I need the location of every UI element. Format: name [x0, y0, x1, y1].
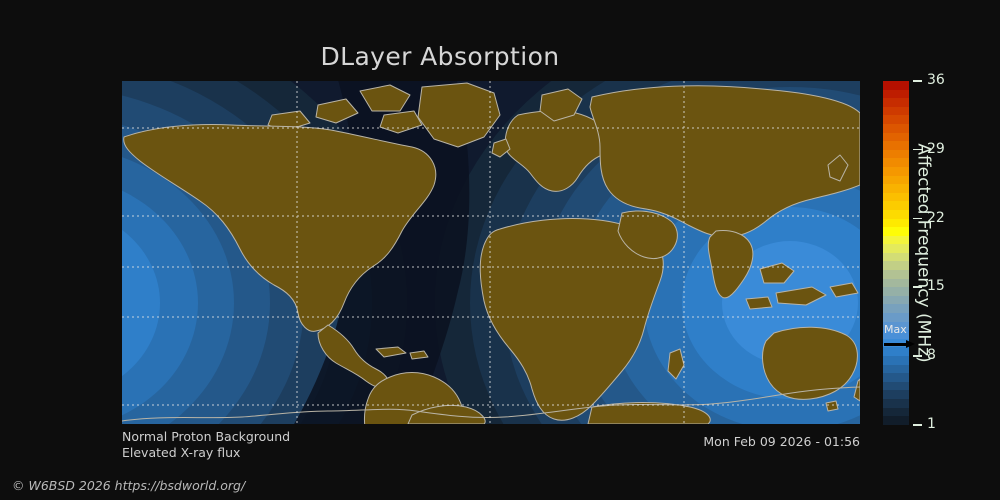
colorbar-band	[883, 133, 909, 142]
colorbar-band	[883, 270, 909, 279]
colorbar-band	[883, 356, 909, 365]
world-map	[122, 81, 860, 424]
status-text: Normal Proton Background Elevated X-ray …	[122, 429, 290, 461]
colorbar-band	[883, 201, 909, 210]
page-title: DLayer Absorption	[0, 42, 880, 71]
colorbar-band	[883, 98, 909, 107]
colorbar-band	[883, 150, 909, 159]
colorbar-gradient	[883, 81, 909, 425]
colorbar-band	[883, 373, 909, 382]
colorbar-band	[883, 210, 909, 219]
colorbar-band	[883, 90, 909, 99]
colorbar-band	[883, 399, 909, 408]
colorbar-band	[883, 365, 909, 374]
colorbar-band	[883, 236, 909, 245]
colorbar-axis-label: Affected Frequency (MHz)	[912, 81, 936, 425]
colorbar-band	[883, 176, 909, 185]
colorbar-band	[883, 244, 909, 253]
colorbar-band	[883, 115, 909, 124]
colorbar-band	[883, 253, 909, 262]
colorbar-band	[883, 416, 909, 425]
status-line-xray: Elevated X-ray flux	[122, 445, 290, 461]
colorbar-band	[883, 304, 909, 313]
colorbar-band	[883, 219, 909, 228]
colorbar-band	[883, 261, 909, 270]
colorbar-band	[883, 287, 909, 296]
colorbar-band	[883, 313, 909, 322]
colorbar	[883, 81, 909, 425]
colorbar-band	[883, 124, 909, 133]
colorbar-band	[883, 107, 909, 116]
colorbar-band	[883, 296, 909, 305]
colorbar-band	[883, 408, 909, 417]
colorbar-band	[883, 184, 909, 193]
max-arrow-icon	[884, 340, 916, 349]
colorbar-band	[883, 141, 909, 150]
colorbar-band	[883, 382, 909, 391]
colorbar-band	[883, 390, 909, 399]
max-marker-label: Max	[884, 324, 907, 336]
plot-canvas: DLayer Absorption	[0, 0, 1000, 500]
status-line-proton: Normal Proton Background	[122, 429, 290, 445]
colorbar-band	[883, 81, 909, 90]
colorbar-axis-label-text: Affected Frequency (MHz)	[914, 143, 934, 362]
colorbar-band	[883, 158, 909, 167]
colorbar-band	[883, 193, 909, 202]
map-svg	[122, 81, 860, 424]
footer-credit: © W6BSD 2026 https://bsdworld.org/	[12, 478, 245, 493]
colorbar-band	[883, 167, 909, 176]
colorbar-band	[883, 279, 909, 288]
timestamp: Mon Feb 09 2026 - 01:56	[600, 434, 860, 450]
colorbar-band	[883, 227, 909, 236]
